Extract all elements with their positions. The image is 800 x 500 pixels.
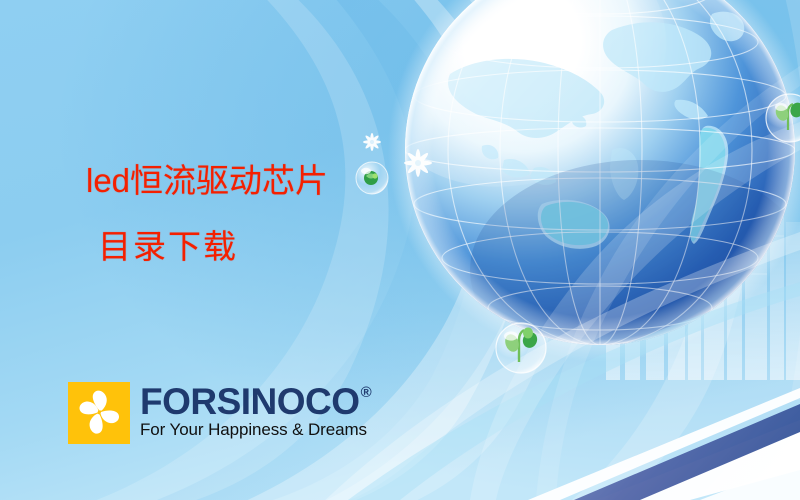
logo-wordmark-row: FORSINOCO ® bbox=[140, 383, 370, 420]
flower-burst-icon bbox=[404, 149, 432, 177]
bubble-plant bbox=[496, 323, 546, 373]
forsinoco-mark bbox=[68, 382, 130, 444]
company-logo: FORSINOCO ® For Your Happiness & Dreams bbox=[68, 382, 370, 444]
logo-text-block: FORSINOCO ® For Your Happiness & Dreams bbox=[140, 383, 370, 439]
slide-canvas: led恒流驱动芯片 目录下载 FORSINOCO bbox=[0, 0, 800, 500]
logo-tagline: For Your Happiness & Dreams bbox=[140, 421, 370, 439]
bubble-globe-small bbox=[356, 162, 388, 194]
registered-trademark-symbol: ® bbox=[361, 385, 372, 400]
logo-wordmark: FORSINOCO bbox=[140, 383, 360, 420]
flower-burst-icon bbox=[363, 133, 381, 151]
four-petal-pinwheel-icon bbox=[68, 382, 130, 444]
